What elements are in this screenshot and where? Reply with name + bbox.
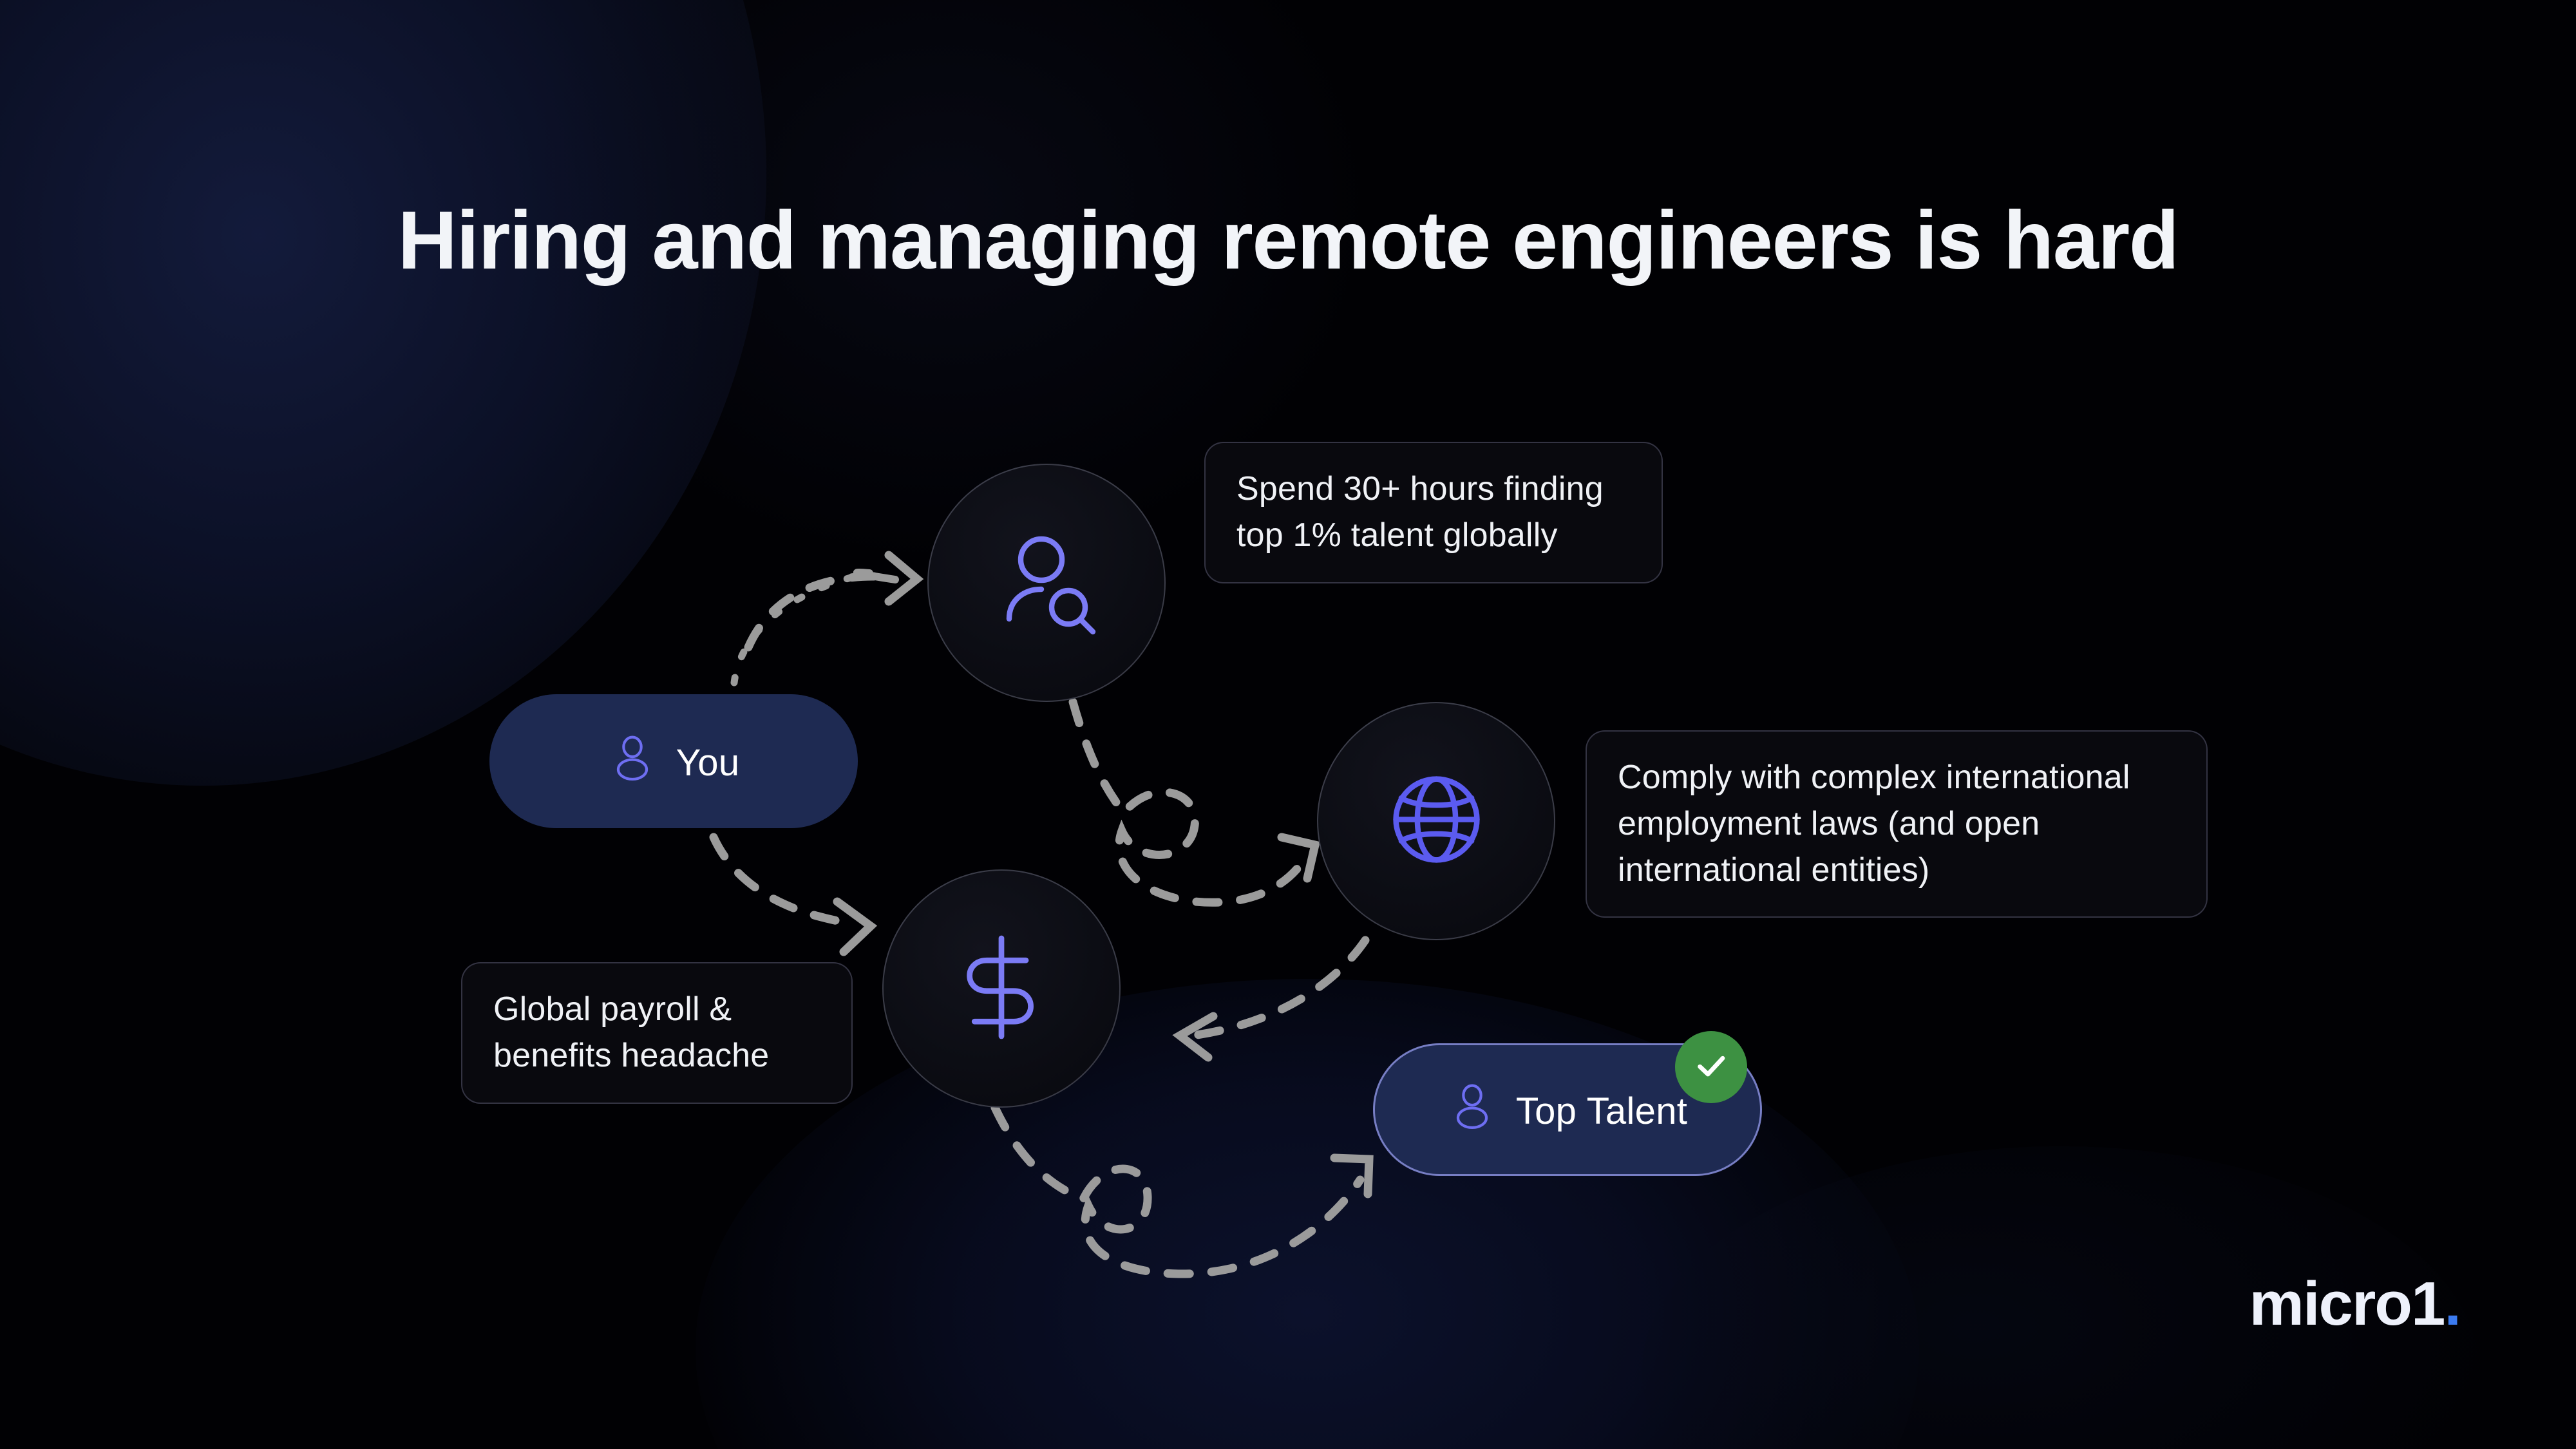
connector-search-to-globe <box>1073 702 1304 902</box>
pain-point-card-compliance: Comply with complex international employ… <box>1586 730 2208 918</box>
connector-diagram <box>0 0 2576 1449</box>
check-icon <box>1691 1046 1731 1089</box>
brand-logo-text: micro1 <box>2249 1269 2445 1340</box>
pain-point-text: Global payroll & benefits headache <box>493 990 769 1074</box>
brand-logo: micro1 . <box>2249 1269 2460 1340</box>
arrowhead-top-talent <box>1334 1158 1369 1194</box>
pain-point-icon-bubble-payroll <box>882 869 1121 1108</box>
person-icon <box>608 732 657 790</box>
pain-point-card-talent: Spend 30+ hours finding top 1% talent gl… <box>1204 442 1663 583</box>
pain-point-text: Comply with complex international employ… <box>1618 759 2130 889</box>
brand-logo-dot: . <box>2444 1269 2460 1340</box>
node-you[interactable]: You <box>489 694 858 828</box>
globe-icon <box>1377 760 1496 882</box>
node-top-talent-label: Top Talent <box>1516 1090 1687 1133</box>
person-icon <box>1448 1081 1497 1139</box>
connector-dollar-to-top-talent <box>995 1108 1360 1274</box>
pain-point-text: Spend 30+ hours finding top 1% talent gl… <box>1236 470 1604 554</box>
pain-point-icon-bubble-search <box>927 464 1166 702</box>
slide-canvas: Hiring and managing remote engineers is … <box>0 0 2576 1449</box>
node-you-label: You <box>676 741 740 784</box>
connector-you-to-dollar <box>714 837 857 924</box>
dollar-icon <box>940 926 1063 1052</box>
pain-point-card-payroll: Global payroll & benefits headache <box>461 962 853 1104</box>
pain-point-icon-bubble-globe <box>1317 702 1555 940</box>
arrowhead-dollar <box>837 902 871 952</box>
connector-you-to-search-b <box>748 576 890 647</box>
status-badge-verified <box>1675 1031 1747 1103</box>
connector-globe-to-left <box>1193 940 1365 1036</box>
person-search-icon <box>982 517 1111 649</box>
